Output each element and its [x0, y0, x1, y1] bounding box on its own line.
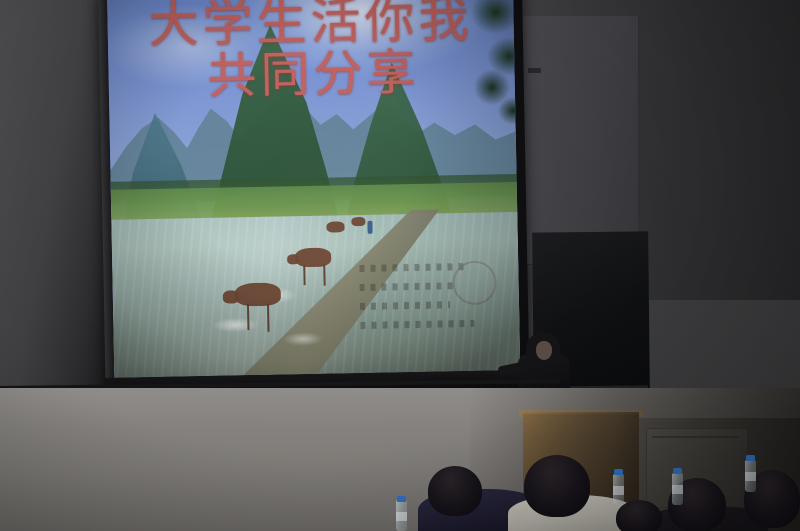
seal-stamp: [452, 260, 497, 305]
water-bottle-1-cap: [397, 496, 406, 502]
ox-mid: [295, 248, 331, 268]
water-bottle-2-cap: [673, 468, 682, 474]
slide-title: 大学生活你我 共同分享: [107, 0, 515, 105]
slide-title-line-2: 共同分享: [108, 45, 515, 105]
ox-far-2: [351, 217, 365, 226]
door-handle: [528, 68, 541, 73]
water-bottle-4-cap: [614, 469, 623, 475]
speaker-face: [536, 341, 552, 360]
distant-herder: [367, 221, 372, 234]
projected-slide: 大学生活你我 共同分享: [107, 0, 520, 378]
ox-near: [234, 283, 280, 307]
audience-head-far-right: [616, 500, 662, 531]
calligraphy-watermark: [356, 256, 504, 351]
audience-head-left: [428, 466, 482, 516]
ox-far-1: [327, 221, 345, 232]
water-bottle-1-label: [396, 512, 407, 521]
lecture-hall-photo: 大学生活你我 共同分享: [0, 0, 800, 531]
water-bottle-3-label: [745, 472, 756, 481]
ox-mid-leg-1: [303, 265, 305, 285]
door-panel: [520, 16, 639, 265]
projection-screen: 大学生活你我 共同分享: [98, 0, 530, 394]
ox-near-head: [222, 290, 238, 303]
water-bottle-4-label: [613, 486, 624, 495]
water-bottle-2-label: [672, 485, 683, 494]
slide-title-line-1: 大学生活你我: [107, 0, 514, 53]
water-foam: [193, 265, 382, 365]
ox-mid-leg-2: [323, 265, 325, 286]
audience-head-white-jacket: [524, 455, 590, 517]
water-bottle-3-cap: [746, 455, 755, 461]
ox-mid-head: [287, 254, 299, 264]
